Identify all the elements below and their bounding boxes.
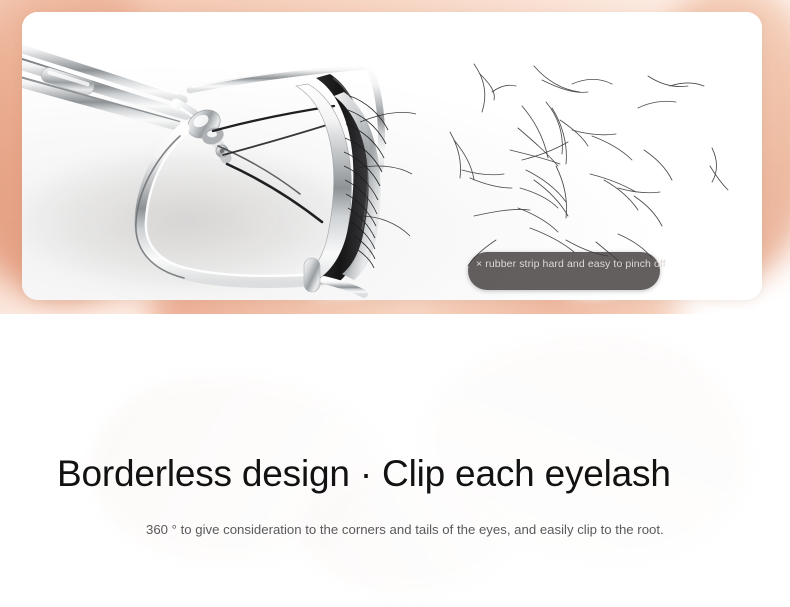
hero-banner: ×rubber strip hard and easy to pinch off — [0, 0, 790, 314]
scattered-eyelashes-image — [422, 62, 752, 267]
page-title: Borderless design · Clip each eyelash — [57, 452, 757, 496]
tooltip-message: rubber strip hard and easy to pinch off — [485, 258, 666, 270]
close-icon[interactable]: × — [476, 258, 482, 270]
eyelash-curler-image — [22, 18, 428, 300]
page-description: 360 ° to give consideration to the corne… — [146, 521, 666, 540]
tooltip-text: ×rubber strip hard and easy to pinch off — [476, 257, 682, 271]
